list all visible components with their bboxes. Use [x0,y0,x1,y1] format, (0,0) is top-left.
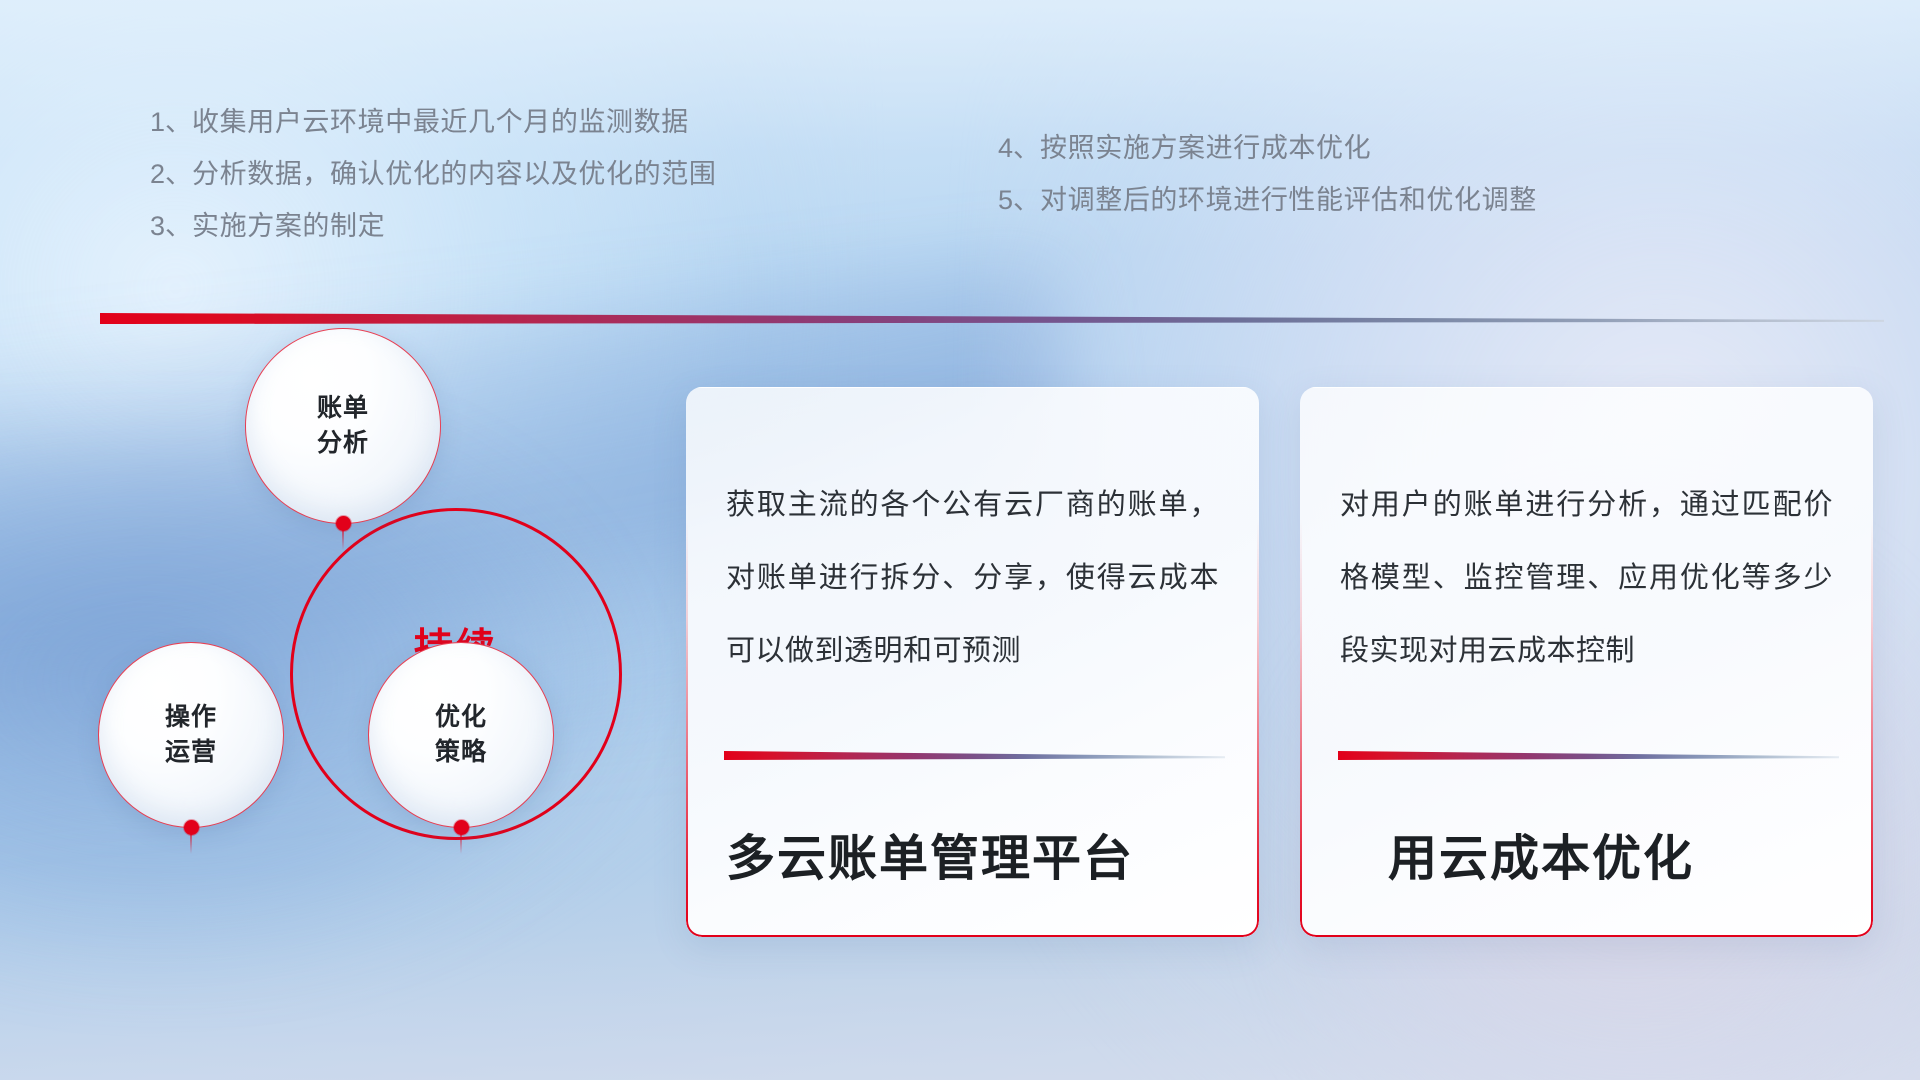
node-label-line2: 运营 [165,736,217,769]
node-dot-operations [184,820,199,835]
node-dot-tail [190,834,192,854]
bullet-list-left: 1、收集用户云环境中最近几个月的监测数据 2、分析数据，确认优化的内容以及优化的… [150,96,890,252]
node-label-line2: 分析 [317,427,369,460]
bullet-text: 对调整后的环境进行性能评估和优化调整 [1040,185,1537,215]
card-title: 多云账单管理平台 [726,819,1229,890]
bullet-item: 2、分析数据，确认优化的内容以及优化的范围 [150,148,890,200]
divider-taper-shape [100,312,1884,324]
bullet-number: 5、 [998,185,1040,215]
diagram-node-bill-analysis[interactable]: 账单 分析 [245,328,441,524]
bullet-number: 1、 [150,107,192,137]
node-label-line1: 优化 [435,701,487,734]
bullet-item: 4、按照实施方案进行成本优化 [998,122,1788,174]
card-divider [724,751,1225,760]
feature-card-multicloud-billing[interactable]: 获取主流的各个公有云厂商的账单，对账单进行拆分、分享，使得云成本可以做到透明和可… [686,387,1259,937]
node-label-line2: 策略 [435,736,487,769]
bullet-text: 分析数据，确认优化的内容以及优化的范围 [192,159,716,189]
node-dot-optimization-strategy [454,820,469,835]
bullet-list-right: 4、按照实施方案进行成本优化 5、对调整后的环境进行性能评估和优化调整 [998,122,1788,226]
bullet-number: 4、 [998,133,1040,163]
node-dot-tail [342,530,344,550]
node-dot-tail [460,834,462,854]
bullet-item: 1、收集用户云环境中最近几个月的监测数据 [150,96,890,148]
card-divider [1338,751,1839,760]
bullet-text: 实施方案的制定 [192,211,385,241]
feature-card-cloud-cost-optimization[interactable]: 对用户的账单进行分析，通过匹配价格模型、监控管理、应用优化等多少段实现对用云成本… [1300,387,1873,937]
bullet-text: 收集用户云环境中最近几个月的监测数据 [192,107,689,137]
bullet-number: 3、 [150,211,192,241]
card-divider-taper-shape [724,751,1225,760]
card-body-text: 获取主流的各个公有云厂商的账单，对账单进行拆分、分享，使得云成本可以做到透明和可… [726,469,1219,688]
bullet-number: 2、 [150,159,192,189]
continuous-operation-diagram: 持续 运营 账单 分析 操作 运营 优化 策略 [100,350,660,970]
card-title: 用云成本优化 [1340,819,1843,890]
bullet-text: 按照实施方案进行成本优化 [1040,133,1371,163]
node-dot-bill-analysis [336,516,351,531]
diagram-node-optimization-strategy[interactable]: 优化 策略 [368,642,554,828]
bullet-item: 5、对调整后的环境进行性能评估和优化调整 [998,174,1788,226]
node-label-line1: 操作 [165,701,217,734]
card-divider-taper-shape [1338,751,1839,760]
node-label-line1: 账单 [317,392,369,425]
section-divider [100,312,1884,324]
bullet-item: 3、实施方案的制定 [150,200,890,252]
diagram-node-operations[interactable]: 操作 运营 [98,642,284,828]
card-body-text: 对用户的账单进行分析，通过匹配价格模型、监控管理、应用优化等多少段实现对用云成本… [1340,469,1833,688]
